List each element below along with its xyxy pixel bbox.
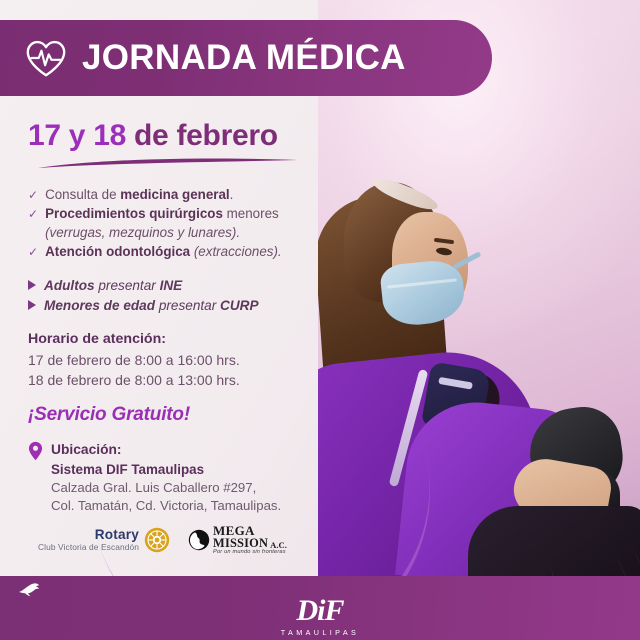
list-item: ✓ Procedimientos quirúrgicos menores(ver… bbox=[28, 205, 338, 242]
mega-suffix: A.C. bbox=[270, 541, 287, 550]
rotary-text: Rotary Club Victoria de Escandón bbox=[38, 527, 139, 552]
service-text: Atención odontológica (extracciones). bbox=[45, 243, 282, 262]
location-text: Ubicación: Sistema DIF Tamaulipas Calzad… bbox=[51, 440, 281, 516]
mega-mission-logo: MEGA MISSION A.C. Por un mundo sin front… bbox=[188, 524, 287, 556]
dif-logo: DiF TAMAULIPAS bbox=[0, 578, 640, 637]
cuff-label bbox=[438, 377, 473, 390]
schedule-block: Horario de atención: 17 de febrero de 8:… bbox=[28, 329, 338, 391]
header-banner: JORNADA MÉDICA bbox=[0, 20, 492, 96]
list-item: Adultos presentar INE bbox=[28, 278, 338, 293]
location-site: Sistema DIF Tamaulipas bbox=[51, 460, 281, 479]
sponsor-logos: Rotary Club Victoria de Escandón bbox=[38, 524, 287, 556]
location-heading: Ubicación: bbox=[51, 440, 281, 460]
mega-line2-row: MISSION A.C. bbox=[213, 537, 287, 549]
requirement-text: Adultos presentar INE bbox=[44, 278, 182, 293]
list-item: Menores de edad presentar CURP bbox=[28, 298, 338, 313]
date-days: 17 y 18 bbox=[28, 119, 126, 152]
heart-pulse-icon bbox=[24, 38, 68, 78]
service-text: Procedimientos quirúrgicos menores(verru… bbox=[45, 205, 279, 242]
date-heading: 17 y 18 de febrero bbox=[28, 120, 338, 152]
rotary-logo: Rotary Club Victoria de Escandón bbox=[38, 527, 170, 553]
list-item: ✓ Atención odontológica (extracciones). bbox=[28, 243, 338, 262]
location-block: Ubicación: Sistema DIF Tamaulipas Calzad… bbox=[28, 440, 338, 516]
page-title: JORNADA MÉDICA bbox=[82, 38, 406, 78]
check-icon: ✓ bbox=[28, 186, 38, 204]
service-text: Consulta de medicina general. bbox=[45, 186, 233, 205]
dif-wordmark: DiF bbox=[0, 596, 640, 626]
date-underline-stroke bbox=[36, 156, 300, 170]
dif-subtitle: TAMAULIPAS bbox=[0, 628, 640, 637]
rotary-club: Club Victoria de Escandón bbox=[38, 543, 139, 553]
mega-tagline: Por un mundo sin fronteras bbox=[213, 550, 287, 556]
free-service-label: ¡Servicio Gratuito! bbox=[28, 404, 338, 426]
map-pin-icon bbox=[28, 441, 43, 461]
mega-line2: MISSION bbox=[213, 537, 268, 549]
globe-icon bbox=[188, 529, 210, 551]
location-address-line1: Calzada Gral. Luis Caballero #297, bbox=[51, 479, 281, 497]
check-icon: ✓ bbox=[28, 205, 38, 223]
mega-mission-text: MEGA MISSION A.C. Por un mundo sin front… bbox=[213, 524, 287, 556]
services-list: ✓ Consulta de medicina general. ✓ Proced… bbox=[28, 186, 338, 262]
poster-canvas: JORNADA MÉDICA 17 y 18 de febrero ✓ Cons… bbox=[0, 0, 640, 640]
requirement-text: Menores de edad presentar CURP bbox=[44, 298, 259, 313]
content-column: 17 y 18 de febrero ✓ Consulta de medicin… bbox=[28, 120, 338, 516]
rotary-wheel-icon bbox=[144, 527, 170, 553]
location-address-line2: Col. Tamatán, Cd. Victoria, Tamaulipas. bbox=[51, 497, 281, 515]
hummingbird-icon bbox=[16, 578, 46, 598]
triangle-bullet-icon bbox=[28, 300, 36, 310]
list-item: ✓ Consulta de medicina general. bbox=[28, 186, 338, 205]
schedule-row: 17 de febrero de 8:00 a 16:00 hrs. bbox=[28, 350, 338, 370]
check-icon: ✓ bbox=[28, 243, 38, 261]
schedule-row: 18 de febrero de 8:00 a 13:00 hrs. bbox=[28, 370, 338, 390]
date-month: de febrero bbox=[126, 119, 278, 152]
requirements-list: Adultos presentar INE Menores de edad pr… bbox=[28, 278, 338, 313]
triangle-bullet-icon bbox=[28, 280, 36, 290]
schedule-heading: Horario de atención: bbox=[28, 329, 338, 350]
rotary-name: Rotary bbox=[38, 527, 139, 543]
